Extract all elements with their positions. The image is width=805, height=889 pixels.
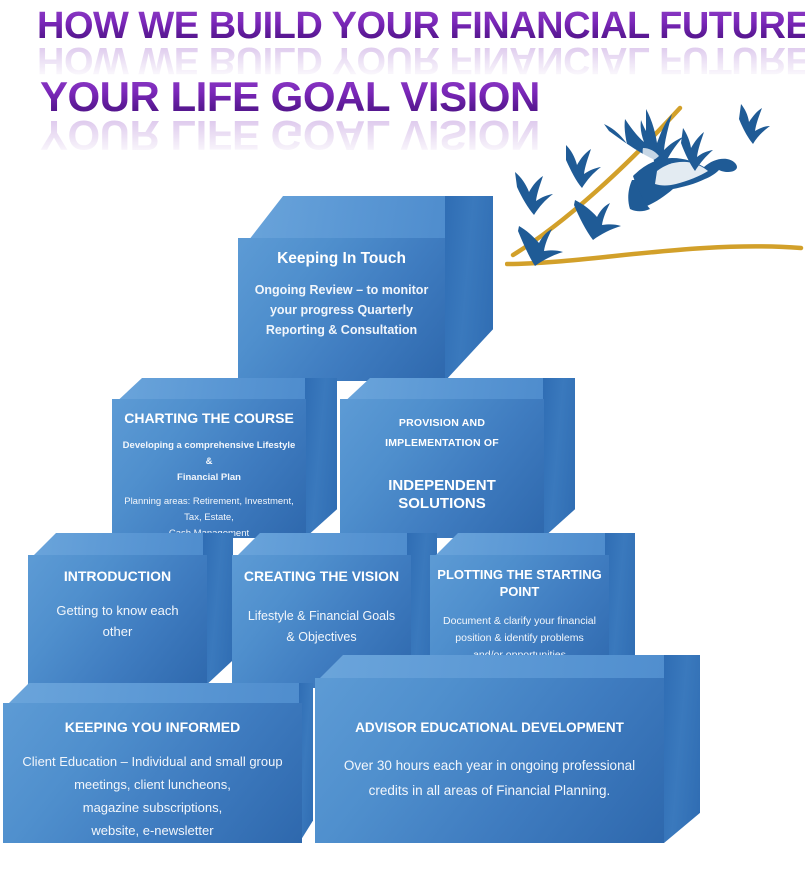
box-right-face <box>445 196 493 381</box>
box-body-line: Document & clarify your financial <box>443 613 596 630</box>
box-body-line: Tax, Estate, <box>124 510 294 526</box>
pyramid-box-independent-solutions[interactable]: PROVISION AND IMPLEMENTATION OF INDEPEND… <box>340 378 575 538</box>
box-body-line: your progress Quarterly <box>255 300 429 320</box>
box-body: Lifestyle & Financial Goals & Objectives <box>248 606 395 648</box>
box-title: PLOTTING THE STARTING <box>437 566 601 583</box>
box-front-face: INTRODUCTION Getting to know each other <box>28 555 207 688</box>
box-title: PROVISION AND <box>399 413 485 433</box>
box-front-face: PROVISION AND IMPLEMENTATION OF INDEPEND… <box>340 399 544 538</box>
box-title: CHARTING THE COURSE <box>124 410 294 426</box>
box-title: ADVISOR EDUCATIONAL DEVELOPMENT <box>355 720 624 736</box>
box-right-face <box>203 533 233 688</box>
box-body-line: Reporting & Consultation <box>255 320 429 340</box>
box-body-line: & Objectives <box>248 627 395 648</box>
pyramid-box-keeping-in-touch[interactable]: Keeping In Touch Ongoing Review – to mon… <box>238 196 493 381</box>
box-title-secondary: POINT <box>500 583 540 600</box>
box-right-face <box>543 378 575 538</box>
box-title: INTRODUCTION <box>64 568 171 584</box>
box-body: Developing a comprehensive Lifestyle & F… <box>118 438 300 486</box>
box-body-line: Over 30 hours each year in ongoing profe… <box>344 753 635 778</box>
pyramid-box-introduction[interactable]: INTRODUCTION Getting to know each other <box>28 533 233 688</box>
box-title: KEEPING YOU INFORMED <box>65 719 241 735</box>
flying-geese-icon <box>505 88 805 288</box>
box-body: Getting to know each other <box>56 600 178 642</box>
box-body: Over 30 hours each year in ongoing profe… <box>344 753 635 803</box>
box-body-line: Ongoing Review – to monitor <box>255 280 429 300</box>
box-body-secondary: Planning areas: Retirement, Investment, … <box>124 494 294 538</box>
box-body-line: Client Education – Individual and small … <box>22 750 282 773</box>
box-body-line: meetings, client luncheons, <box>22 773 282 796</box>
slide-canvas: HOW WE BUILD YOUR FINANCIAL FUTURE HOW W… <box>0 0 805 889</box>
box-front-face: ADVISOR EDUCATIONAL DEVELOPMENT Over 30 … <box>315 678 664 843</box>
box-title: CREATING THE VISION <box>244 568 399 584</box>
box-body-line: Financial Plan <box>118 470 300 486</box>
box-body-line: Lifestyle & Financial Goals <box>248 606 395 627</box>
box-body-line: other <box>56 621 178 642</box>
page-title-primary-text: HOW WE BUILD YOUR FINANCIAL FUTURE <box>37 6 805 46</box>
box-body-line: website, e-newsletter <box>22 819 282 842</box>
box-front-face: KEEPING YOU INFORMED Client Education – … <box>3 703 302 843</box>
box-body-line: Getting to know each <box>56 600 178 621</box>
box-body-line: credits in all areas of Financial Planni… <box>344 778 635 803</box>
box-body-line: Planning areas: Retirement, Investment, <box>124 494 294 510</box>
box-right-face <box>305 378 337 538</box>
box-title: Keeping In Touch <box>277 250 406 268</box>
box-body: Client Education – Individual and small … <box>22 750 282 842</box>
page-title-primary: HOW WE BUILD YOUR FINANCIAL FUTURE HOW W… <box>0 6 805 80</box>
box-front-face: CHARTING THE COURSE Developing a compreh… <box>112 399 306 538</box>
box-body: Ongoing Review – to monitor your progres… <box>255 280 429 340</box>
box-headline: INDEPENDENT SOLUTIONS <box>346 477 538 513</box>
box-title-secondary: IMPLEMENTATION OF <box>385 433 499 453</box>
pyramid-box-advisor-educational-development[interactable]: ADVISOR EDUCATIONAL DEVELOPMENT Over 30 … <box>315 655 700 843</box>
box-body-line: position & identify problems <box>443 630 596 647</box>
pyramid-box-charting-the-course[interactable]: CHARTING THE COURSE Developing a compreh… <box>112 378 337 538</box>
page-title-secondary-text: YOUR LIFE GOAL VISION <box>40 74 540 119</box>
pyramid-box-keeping-you-informed[interactable]: KEEPING YOU INFORMED Client Education – … <box>3 683 313 843</box>
box-body-line: Developing a comprehensive Lifestyle & <box>118 438 300 470</box>
box-body-line: magazine subscriptions, <box>22 796 282 819</box>
box-right-face <box>664 655 700 843</box>
box-front-face: Keeping In Touch Ongoing Review – to mon… <box>238 238 445 381</box>
